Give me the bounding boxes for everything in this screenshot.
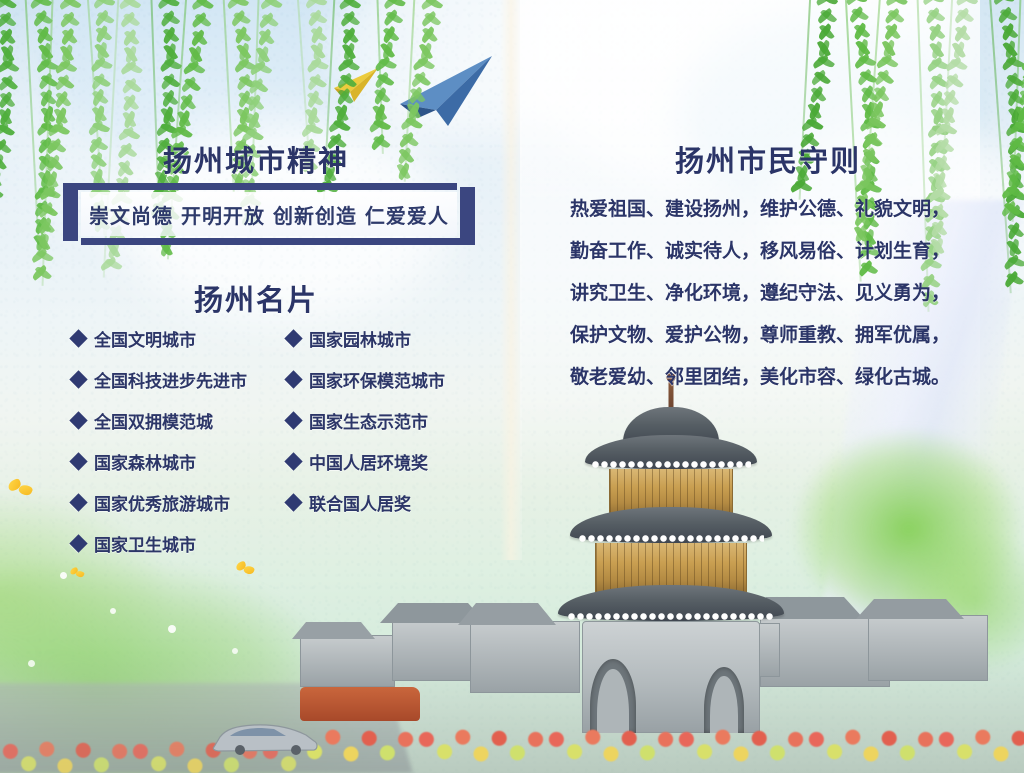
frame-bar-bottom [81, 238, 475, 245]
list-item: 国家森林城市 [72, 441, 287, 482]
list-item-label: 国家卫生城市 [94, 531, 196, 556]
city-motto-text: 崇文尚德 开明开放 创新创造 仁爱爱人 [89, 200, 449, 229]
list-item: 国家生态示范市 [287, 400, 502, 441]
rule-line: 热爱祖国、建设扬州，维护公德、礼貌文明， [570, 188, 990, 230]
rule-line: 敬老爱幼、邻里团结，美化市容、绿化古城。 [570, 356, 990, 398]
right-content-column: 扬州市民守则 热爱祖国、建设扬州，维护公德、礼貌文明， 勤奋工作、诚实待人，移风… [512, 0, 1024, 773]
city-motto-inner: 崇文尚德 开明开放 创新创造 仁爱爱人 [81, 192, 457, 236]
list-item: 联合国人居奖 [287, 482, 502, 523]
list-item: 国家环保模范城市 [287, 359, 502, 400]
rule-line: 勤奋工作、诚实待人，移风易俗、计划生育， [570, 230, 990, 272]
diamond-bullet-icon [284, 370, 302, 388]
list-item: 全国双拥模范城 [72, 400, 287, 441]
list-item: 国家优秀旅游城市 [72, 482, 287, 523]
left-content-column: 扬州城市精神 崇文尚德 开明开放 创新创造 仁爱爱人 扬州名片 全国文明城市 全… [0, 0, 512, 773]
list-item-label: 全国双拥模范城 [94, 408, 213, 433]
diamond-bullet-icon [69, 411, 87, 429]
city-cards-title: 扬州名片 [0, 277, 512, 319]
list-item: 国家卫生城市 [72, 523, 287, 564]
list-item-label: 国家园林城市 [309, 326, 411, 351]
city-cards-column-right: 国家园林城市 国家环保模范城市 国家生态示范市 中国人居环境奖 联合国人居奖 [287, 318, 502, 523]
diamond-bullet-icon [284, 452, 302, 470]
diamond-bullet-icon [69, 452, 87, 470]
list-item-label: 国家森林城市 [94, 449, 196, 474]
poster-canvas: 扬州城市精神 崇文尚德 开明开放 创新创造 仁爱爱人 扬州名片 全国文明城市 全… [0, 0, 1024, 773]
diamond-bullet-icon [69, 534, 87, 552]
rule-line: 讲究卫生、净化环境，遵纪守法、见义勇为， [570, 272, 990, 314]
diamond-bullet-icon [284, 493, 302, 511]
list-item: 全国科技进步先进市 [72, 359, 287, 400]
citizen-rules-title: 扬州市民守则 [512, 138, 1024, 180]
list-item-label: 国家优秀旅游城市 [94, 490, 230, 515]
rule-line: 保护文物、爱护公物，尊师重教、拥军优属， [570, 314, 990, 356]
frame-bar-left [63, 183, 78, 241]
city-motto-frame: 崇文尚德 开明开放 创新创造 仁爱爱人 [63, 183, 475, 245]
diamond-bullet-icon [69, 493, 87, 511]
city-cards-column-left: 全国文明城市 全国科技进步先进市 全国双拥模范城 国家森林城市 国家优秀旅游城市 [72, 318, 287, 564]
list-item-label: 国家环保模范城市 [309, 367, 445, 392]
diamond-bullet-icon [69, 370, 87, 388]
city-spirit-title: 扬州城市精神 [0, 138, 512, 180]
list-item: 中国人居环境奖 [287, 441, 502, 482]
list-item-label: 全国文明城市 [94, 326, 196, 351]
list-item: 国家园林城市 [287, 318, 502, 359]
list-item-label: 中国人居环境奖 [309, 449, 428, 474]
citizen-rules-body: 热爱祖国、建设扬州，维护公德、礼貌文明， 勤奋工作、诚实待人，移风易俗、计划生育… [570, 188, 990, 398]
list-item-label: 全国科技进步先进市 [94, 367, 247, 392]
list-item-label: 国家生态示范市 [309, 408, 428, 433]
diamond-bullet-icon [69, 329, 87, 347]
frame-bar-right [460, 187, 475, 245]
diamond-bullet-icon [284, 411, 302, 429]
list-item-label: 联合国人居奖 [309, 490, 411, 515]
list-item: 全国文明城市 [72, 318, 287, 359]
frame-bar-top [63, 183, 457, 190]
diamond-bullet-icon [284, 329, 302, 347]
